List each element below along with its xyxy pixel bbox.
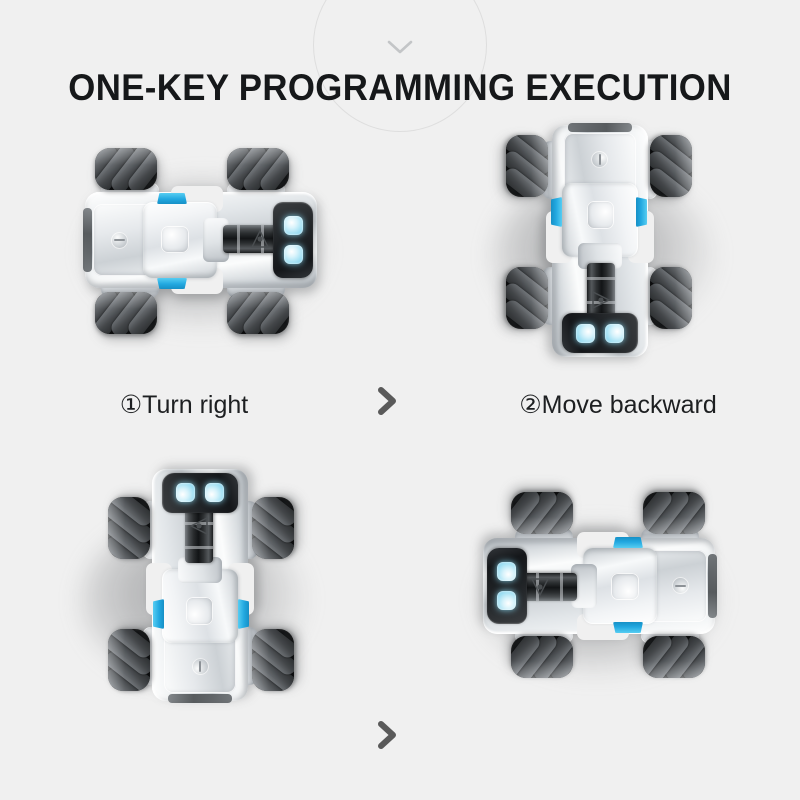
vehicle-illustration-4 (450, 466, 750, 706)
promo-image-root: ONE-KEY PROGRAMMING EXECUTION (0, 0, 800, 800)
step-card-1: ①Turn right (0, 112, 400, 456)
warning-triangle-icon (247, 226, 273, 252)
vehicle-illustration-1 (50, 120, 350, 360)
turret-port (161, 226, 189, 253)
step-card-4: ④Turn left (400, 456, 800, 800)
mecanum-wheel (252, 497, 294, 559)
headlight-housing (487, 548, 527, 624)
step-label-2: ②Move backward (418, 390, 800, 420)
accent-light (157, 193, 187, 204)
rear-bumper (708, 554, 717, 618)
rear-screw-port (672, 577, 689, 594)
headlight-lamp (576, 324, 595, 343)
mecanum-wheel (643, 636, 705, 678)
mecanum-wheel (650, 135, 692, 197)
mecanum-wheel (506, 267, 548, 329)
accent-light (551, 197, 562, 227)
headlight-lamp (284, 245, 303, 264)
accent-light (238, 599, 249, 629)
turret-port (587, 201, 614, 229)
rear-screw-port (192, 658, 209, 675)
headlight-lamp (497, 562, 516, 581)
accent-light (153, 599, 164, 629)
rc-stunt-car-turn-right (77, 152, 323, 328)
mecanum-wheel (643, 492, 705, 534)
warning-triangle-icon (588, 287, 614, 313)
turret-port (611, 573, 639, 600)
rear-bumper (83, 208, 92, 272)
mecanum-wheel (227, 292, 289, 334)
warning-triangle-icon (527, 574, 553, 600)
rear-screw-port (591, 151, 608, 168)
mecanum-wheel (95, 292, 157, 334)
rear-screw-port (111, 232, 128, 249)
headlight-lamp (176, 483, 195, 502)
page-title: ONE-KEY PROGRAMMING EXECUTION (24, 68, 776, 108)
mecanum-wheel (506, 135, 548, 197)
step-card-3: ③Move forward (0, 456, 400, 800)
mecanum-wheel (108, 629, 150, 691)
step-label-1: ①Turn right (0, 390, 384, 420)
headlight-lamp (284, 216, 303, 235)
turret-port (186, 597, 213, 625)
mecanum-wheel (227, 148, 289, 190)
headlight-lamp (497, 591, 516, 610)
chevron-down-icon (385, 38, 415, 56)
mecanum-wheel (252, 629, 294, 691)
rc-stunt-car-move-forward (112, 463, 288, 709)
mecanum-wheel (108, 497, 150, 559)
headlight-lamp (205, 483, 224, 502)
headlight-housing (273, 202, 313, 278)
chevron-right-icon (374, 719, 400, 751)
mecanum-wheel (95, 148, 157, 190)
mecanum-wheel (650, 267, 692, 329)
warning-triangle-icon (186, 513, 212, 539)
rear-bumper (168, 694, 232, 703)
mecanum-wheel (511, 492, 573, 534)
vehicle-illustration-3 (50, 466, 350, 706)
rear-bumper (568, 123, 632, 132)
mecanum-wheel (511, 636, 573, 678)
accent-light (613, 622, 643, 633)
headlight-housing (562, 313, 638, 353)
accent-light (636, 197, 647, 227)
accent-light (613, 537, 643, 548)
accent-light (157, 278, 187, 289)
headlight-housing (162, 473, 238, 513)
steps-grid: ①Turn right (0, 112, 800, 800)
chevron-right-icon (374, 385, 400, 417)
vehicle-illustration-2 (450, 120, 750, 360)
headlight-lamp (605, 324, 624, 343)
step-card-2: ②Move backward (400, 112, 800, 456)
rc-stunt-car-move-backward (512, 117, 688, 363)
rc-stunt-car-turn-left (477, 498, 723, 674)
